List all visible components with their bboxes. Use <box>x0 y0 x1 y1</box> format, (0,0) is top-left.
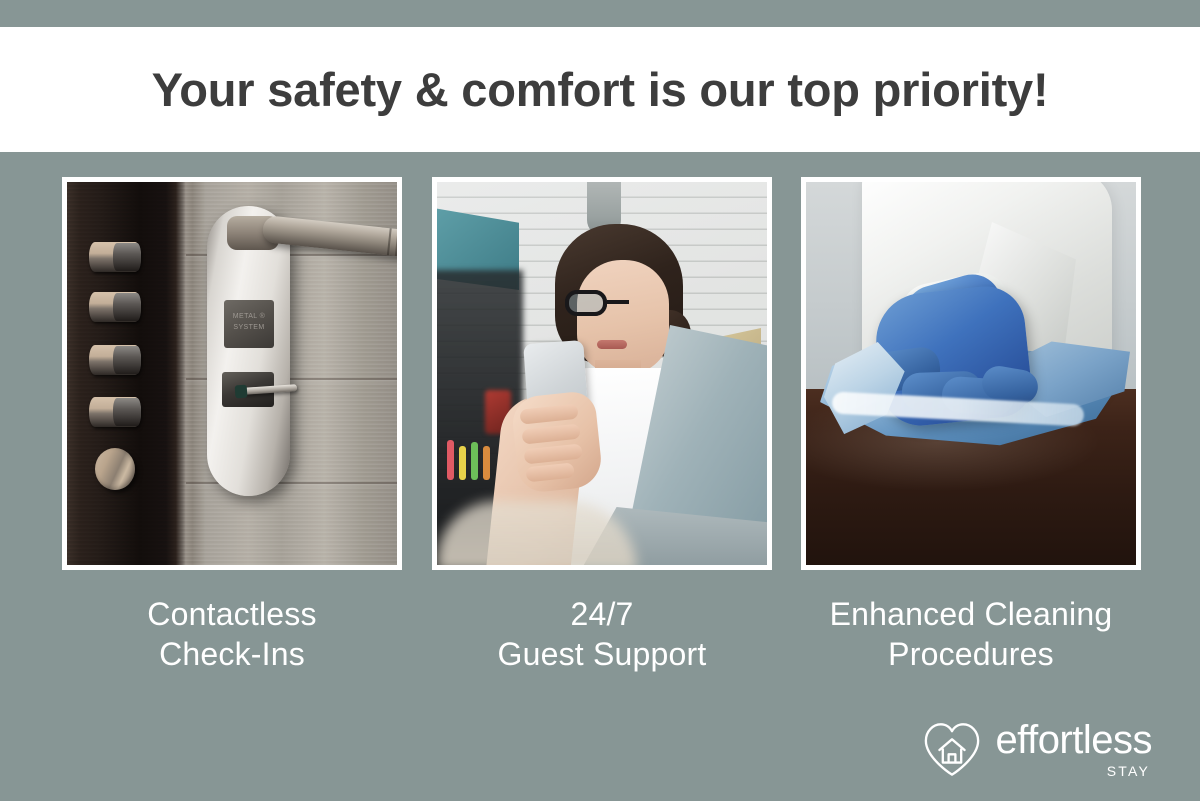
finger <box>525 462 574 482</box>
caption-line-2: Procedures <box>801 634 1141 674</box>
headline-band: Your safety & comfort is our top priorit… <box>0 27 1200 152</box>
lock-brand-badge: METAL ® SYSTEM <box>224 300 274 348</box>
logo-wordmark: effortless STAY <box>995 720 1152 778</box>
woman-face <box>577 260 669 374</box>
finger <box>522 424 581 445</box>
page-title: Your safety & comfort is our top priorit… <box>152 62 1049 117</box>
lens-right <box>565 290 607 316</box>
door-knob <box>95 448 135 490</box>
feature-card-contactless: METAL ® SYSTEM <box>62 177 402 570</box>
guest-support-woman-phone-laptop-photo <box>437 182 767 565</box>
glasses-bridge <box>607 300 629 304</box>
pen <box>459 446 466 480</box>
pen <box>447 440 454 480</box>
pen <box>483 446 490 480</box>
eyeglasses-icon <box>565 290 671 316</box>
feature-card-guest-support <box>432 177 772 570</box>
feature-card-enhanced-cleaning <box>801 177 1141 570</box>
caption-line-1: Enhanced Cleaning <box>801 594 1141 634</box>
caption-line-2: Check-Ins <box>62 634 402 674</box>
door-bolt <box>89 242 141 272</box>
feature-caption-guest-support: 24/7 Guest Support <box>432 594 772 674</box>
caption-line-1: Contactless <box>62 594 402 634</box>
feature-caption-enhanced-cleaning: Enhanced Cleaning Procedures <box>801 594 1141 674</box>
caption-line-2: Guest Support <box>432 634 772 674</box>
door-bolt <box>89 292 141 322</box>
heart-house-icon <box>921 719 983 779</box>
brand-logo: effortless STAY <box>921 719 1152 779</box>
pen <box>471 442 478 480</box>
enhanced-cleaning-gloved-hand-photo <box>806 182 1136 565</box>
feature-caption-contactless: Contactless Check-Ins <box>62 594 402 674</box>
woman-hand <box>510 390 604 494</box>
caption-line-1: 24/7 <box>432 594 772 634</box>
promo-graphic: Your safety & comfort is our top priorit… <box>0 0 1200 801</box>
logo-brand-name: effortless <box>995 720 1152 760</box>
finger <box>519 404 578 425</box>
feature-cards-row: METAL ® SYSTEM <box>0 177 1200 577</box>
door-bolt <box>89 397 141 427</box>
contactless-door-lock-photo: METAL ® SYSTEM <box>67 182 397 565</box>
door-bolt <box>89 345 141 375</box>
finger <box>524 443 583 464</box>
woman-lips <box>597 340 627 349</box>
logo-brand-sub: STAY <box>1107 764 1150 778</box>
